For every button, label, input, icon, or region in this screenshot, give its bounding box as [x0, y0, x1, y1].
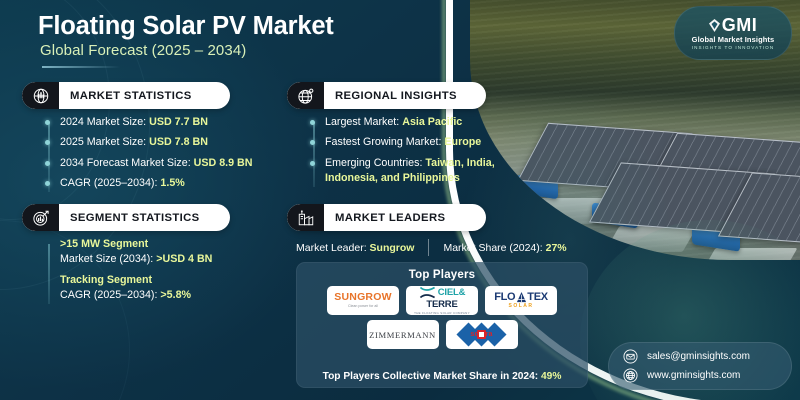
player-logo-name-suffix: TEX — [527, 292, 548, 303]
contact-panel: sales@gminsights.com www.gminsights.com — [608, 342, 792, 390]
list-item: CAGR (2025–2034): 1.5% — [60, 177, 252, 190]
player-logo-name: ZIMMERMANN — [369, 330, 436, 340]
globe-icon — [623, 368, 638, 383]
item-label: Market Size (2034): — [60, 253, 153, 265]
market-leader-value: Sungrow — [370, 242, 415, 254]
item-value: Indonesia, and Philippines — [325, 172, 460, 184]
market-share-value: 27% — [546, 242, 567, 254]
item-label: 2025 Market Size: — [60, 136, 146, 148]
infographic-canvas: GMI Global Market Insights Insights to I… — [0, 0, 800, 400]
gmi-logo-fullname: Global Market Insights — [692, 35, 775, 44]
list-rail — [48, 244, 50, 304]
section-label: MARKET STATISTICS — [59, 90, 192, 102]
factory-icon — [287, 204, 324, 231]
gmi-logo: GMI Global Market Insights Insights to I… — [674, 6, 792, 60]
list-item: Emerging Countries: Taiwan, India, — [325, 157, 495, 170]
gmi-diamond-icon — [709, 19, 720, 32]
player-logo-zimmermann: ZIMMERMANN — [367, 320, 439, 349]
player-logo-tagline: SOLAR — [494, 304, 548, 309]
section-label: REGIONAL INSIGHTS — [324, 90, 457, 102]
page-title: Floating Solar PV Market — [38, 12, 334, 41]
player-logo-name2: TERRE — [426, 300, 457, 310]
bullet-dot — [310, 161, 315, 166]
envelope-icon — [623, 349, 638, 364]
vertical-divider — [428, 239, 429, 256]
item-label: CAGR (2025–2034): — [60, 177, 157, 189]
globe-chart-icon — [22, 82, 59, 109]
player-logo-tagline: Clean power for all — [334, 305, 391, 309]
segment-statistics-list: >15 MW Segment Market Size (2034): >USD … — [38, 238, 212, 310]
contact-website-row[interactable]: www.gminsights.com — [623, 368, 791, 383]
collective-share-label: Top Players Collective Market Share in 2… — [323, 371, 539, 382]
player-logo-name-prefix: FLO — [494, 292, 515, 303]
gmi-logo-tagline: Insights to Innovation — [692, 45, 775, 50]
market-leader-summary: Market Leader: Sungrow Market Share (202… — [296, 239, 580, 256]
item-value: Taiwan, India, — [425, 157, 494, 169]
player-logo-floatex-solar: FLO TEX SOLAR — [485, 286, 557, 315]
regional-insights-list: Largest Market: Asia Pacific Fastest Gro… — [303, 116, 495, 193]
page-subtitle: Global Forecast (2025 – 2034) — [40, 42, 246, 59]
target-arrow-icon — [22, 204, 59, 231]
collective-share-value: 49% — [541, 371, 561, 382]
section-header-segment-statistics: SEGMENT STATISTICS — [22, 204, 230, 231]
item-value: >5.8% — [160, 289, 191, 301]
section-label: MARKET LEADERS — [324, 212, 445, 224]
player-logo-tagline: THE FLOATING SOLAR COMPANY — [414, 312, 470, 315]
item-label: Emerging Countries: — [325, 157, 422, 169]
section-header-market-leaders: MARKET LEADERS — [287, 204, 486, 231]
item-label: CAGR (2025–2034): — [60, 289, 157, 301]
top-players-logo-row: ZIMMERMANN scotra — [297, 320, 587, 349]
list-item: 2025 Market Size: USD 7.8 BN — [60, 136, 252, 149]
gmi-logo-main: GMI — [709, 16, 758, 34]
bullet-dot — [310, 120, 315, 125]
list-item: Indonesia, and Philippines — [325, 172, 495, 185]
contact-email-row[interactable]: sales@gminsights.com — [623, 349, 791, 364]
group-heading: >15 MW Segment — [60, 238, 148, 250]
ciel-terre-mark-icon — [419, 286, 436, 299]
contact-email-text: sales@gminsights.com — [647, 351, 750, 362]
list-item: 2024 Market Size: USD 7.7 BN — [60, 116, 252, 129]
item-value: USD 7.8 BN — [149, 136, 208, 148]
player-logo-name: SUNGROW — [334, 292, 391, 303]
market-share-label: Market Share (2024): — [443, 242, 542, 254]
contact-website-text: www.gminsights.com — [647, 370, 740, 381]
section-label: SEGMENT STATISTICS — [59, 212, 200, 224]
list-item: Tracking Segment CAGR (2025–2034): >5.8% — [60, 274, 212, 301]
market-share-cell: Market Share (2024): 27% — [443, 242, 566, 254]
gmi-logo-text: GMI — [722, 16, 758, 34]
item-value: 1.5% — [160, 177, 184, 189]
chip-shape — [477, 330, 486, 339]
section-header-market-statistics: MARKET STATISTICS — [22, 82, 230, 109]
globe-icon — [287, 82, 324, 109]
list-item: Fastest Growing Market: Europe — [325, 136, 495, 149]
player-logo-ciel-et-terre: CIEL& TERRE THE FLOATING SOLAR COMPANY — [406, 286, 478, 315]
list-item: Largest Market: Asia Pacific — [325, 116, 495, 129]
top-players-card: Top Players SUNGROW Clean power for all … — [296, 262, 588, 388]
player-logo-scotra: scotra — [446, 320, 518, 349]
top-players-logo-row: SUNGROW Clean power for all CIEL& TERRE … — [297, 286, 587, 315]
item-value: USD 8.9 BN — [194, 157, 253, 169]
item-label: Largest Market: — [325, 116, 399, 128]
item-label: 2024 Market Size: — [60, 116, 146, 128]
player-logo-sungrow: SUNGROW Clean power for all — [327, 286, 399, 315]
item-label: Fastest Growing Market: — [325, 136, 441, 148]
section-header-regional-insights: REGIONAL INSIGHTS — [287, 82, 486, 109]
market-statistics-list: 2024 Market Size: USD 7.7 BN 2025 Market… — [38, 116, 252, 198]
market-leader-label: Market Leader: — [296, 242, 367, 254]
list-item: 2034 Forecast Market Size: USD 8.9 BN — [60, 157, 252, 170]
item-value: Europe — [444, 136, 481, 148]
item-label: 2034 Forecast Market Size: — [60, 157, 191, 169]
bullet-dot — [45, 140, 50, 145]
title-divider — [42, 66, 120, 68]
player-logo-name: CIEL& — [438, 288, 466, 298]
list-item: >15 MW Segment Market Size (2034): >USD … — [60, 238, 212, 265]
top-players-title: Top Players — [297, 269, 587, 281]
bullet-dot — [45, 120, 50, 125]
item-value: >USD 4 BN — [156, 253, 212, 265]
solar-panel-icon — [516, 292, 527, 303]
item-value: Asia Pacific — [402, 116, 462, 128]
market-leader-cell: Market Leader: Sungrow — [296, 242, 414, 254]
bullet-dot — [45, 161, 50, 166]
item-value: USD 7.7 BN — [149, 116, 208, 128]
bullet-dot — [310, 140, 315, 145]
bullet-dot — [45, 181, 50, 186]
list-rail — [313, 122, 315, 187]
group-heading: Tracking Segment — [60, 274, 152, 286]
collective-share-line: Top Players Collective Market Share in 2… — [297, 371, 587, 382]
